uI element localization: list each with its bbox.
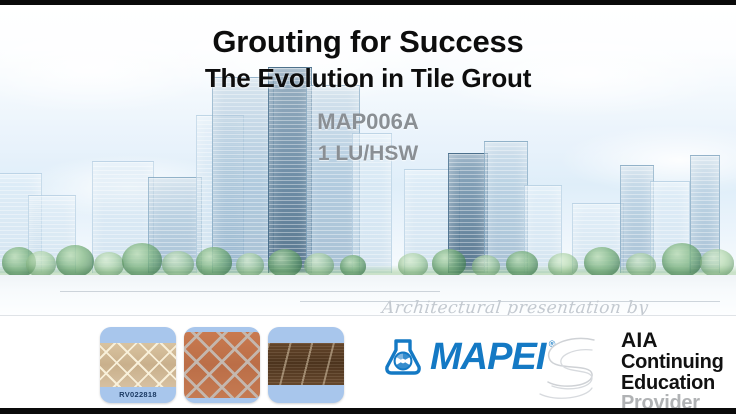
revision-code-label: RV022818 [100, 390, 176, 399]
tree [94, 252, 124, 277]
tree [162, 251, 194, 277]
tree [340, 255, 366, 277]
aia-line-4: Provider [621, 393, 724, 408]
ground-line [60, 291, 440, 292]
script-caption-text: Architectural presentation by [381, 298, 649, 315]
course-code-text: MAP006A [0, 108, 736, 136]
tree [236, 253, 264, 277]
tree [548, 253, 578, 277]
letterbox-bar-bottom [0, 408, 736, 414]
dark-wood-plank-tile-image [268, 343, 344, 385]
tree [626, 253, 656, 277]
tree [304, 253, 334, 277]
beige-diagonal-tile-image [100, 343, 176, 387]
tile-thumbnail-strip: RV022818 [100, 327, 344, 403]
terracotta-diagonal-tile-image [184, 332, 260, 398]
mapei-wordmark: MAPEI ® [430, 338, 545, 376]
tree [506, 251, 538, 277]
aia-line-1: AIA [621, 330, 724, 352]
tile-thumbnail[interactable] [268, 327, 344, 403]
tile-thumbnail[interactable]: RV022818 [100, 327, 176, 403]
tile-thumbnail[interactable] [184, 327, 260, 403]
letterbox-bar-top [0, 0, 736, 5]
tree [268, 249, 302, 277]
page-subtitle: The Evolution in Tile Grout [0, 63, 736, 94]
cityscape-background: Grouting for Success The Evolution in Ti… [0, 5, 736, 315]
tree [196, 247, 232, 277]
mapei-logo: MAPEI ® [383, 338, 545, 376]
presentation-slide: Grouting for Success The Evolution in Ti… [0, 0, 736, 414]
aia-continuing-education-logo: AIA Continuing Education Provider [621, 330, 724, 408]
tree [56, 245, 94, 277]
slide-stage: Grouting for Success The Evolution in Ti… [0, 5, 736, 408]
tree [584, 247, 620, 277]
tree [26, 251, 56, 277]
tree [472, 255, 500, 277]
tree [432, 249, 466, 277]
slide-footer: RV022818 [0, 316, 736, 408]
tree [122, 243, 162, 277]
aia-line-2: Continuing [621, 352, 724, 373]
title-block: Grouting for Success The Evolution in Ti… [0, 25, 736, 168]
mapei-wordmark-text: MAPEI [430, 336, 545, 378]
tree [662, 243, 702, 277]
aia-line-3: Education [621, 373, 724, 394]
mapei-flask-icon [383, 338, 423, 376]
decorative-swirl-icon [534, 332, 612, 406]
tree [700, 249, 734, 277]
credit-hours-text: 1 LU/HSW [0, 141, 736, 167]
page-title: Grouting for Success [0, 25, 736, 60]
tree [398, 253, 428, 277]
